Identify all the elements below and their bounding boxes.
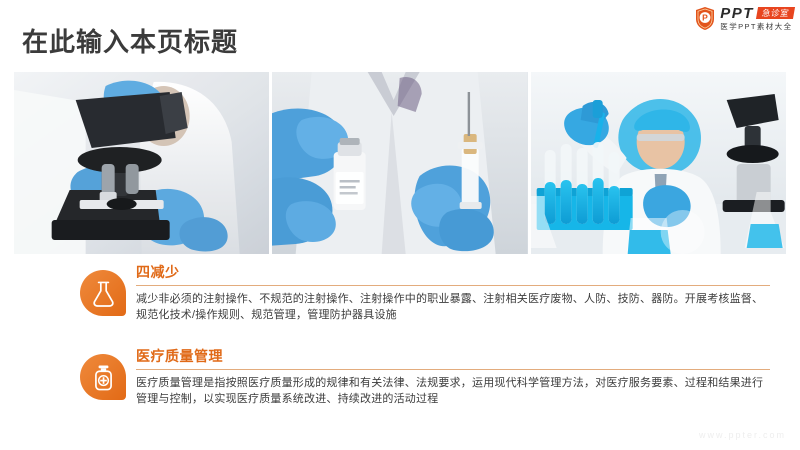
logo-tagline: 医学PPT素材大全	[720, 23, 794, 31]
bullet-heading: 四减少	[136, 262, 770, 286]
photo-strip	[14, 72, 786, 254]
microscope-photo	[14, 72, 269, 254]
logo-brand-text: PPT	[720, 6, 754, 21]
site-watermark: www.ppter.com	[699, 430, 786, 440]
bullet-heading: 医疗质量管理	[136, 346, 770, 370]
shield-p-icon: P	[694, 6, 716, 31]
vaccine-vial-syringe-photo	[272, 72, 527, 254]
bullet-text: 医疗质量管理是指按照医疗质量形成的规律和有关法律、法规要求，运用现代科学管理方法…	[136, 375, 770, 407]
bullet-text: 减少非必须的注射操作、不规范的注射操作、注射操作中的职业暴露、注射相关医疗废物、…	[136, 291, 770, 323]
medicine-bottle-cross-icon	[80, 354, 126, 400]
lab-technician-test-tubes-photo	[531, 72, 786, 254]
flask-icon	[80, 270, 126, 316]
page-title: 在此输入本页标题	[22, 22, 238, 59]
bullet-item: 四减少 减少非必须的注射操作、不规范的注射操作、注射操作中的职业暴露、注射相关医…	[80, 262, 770, 324]
logo-badge: 急诊室	[756, 7, 795, 19]
brand-logo: P PPT 急诊室 医学PPT素材大全	[694, 4, 794, 32]
bullet-item: 医疗质量管理 医疗质量管理是指按照医疗质量形成的规律和有关法律、法规要求，运用现…	[80, 346, 770, 408]
svg-text:P: P	[702, 12, 708, 22]
bullet-list: 四减少 减少非必须的注射操作、不规范的注射操作、注射操作中的职业暴露、注射相关医…	[80, 262, 770, 430]
